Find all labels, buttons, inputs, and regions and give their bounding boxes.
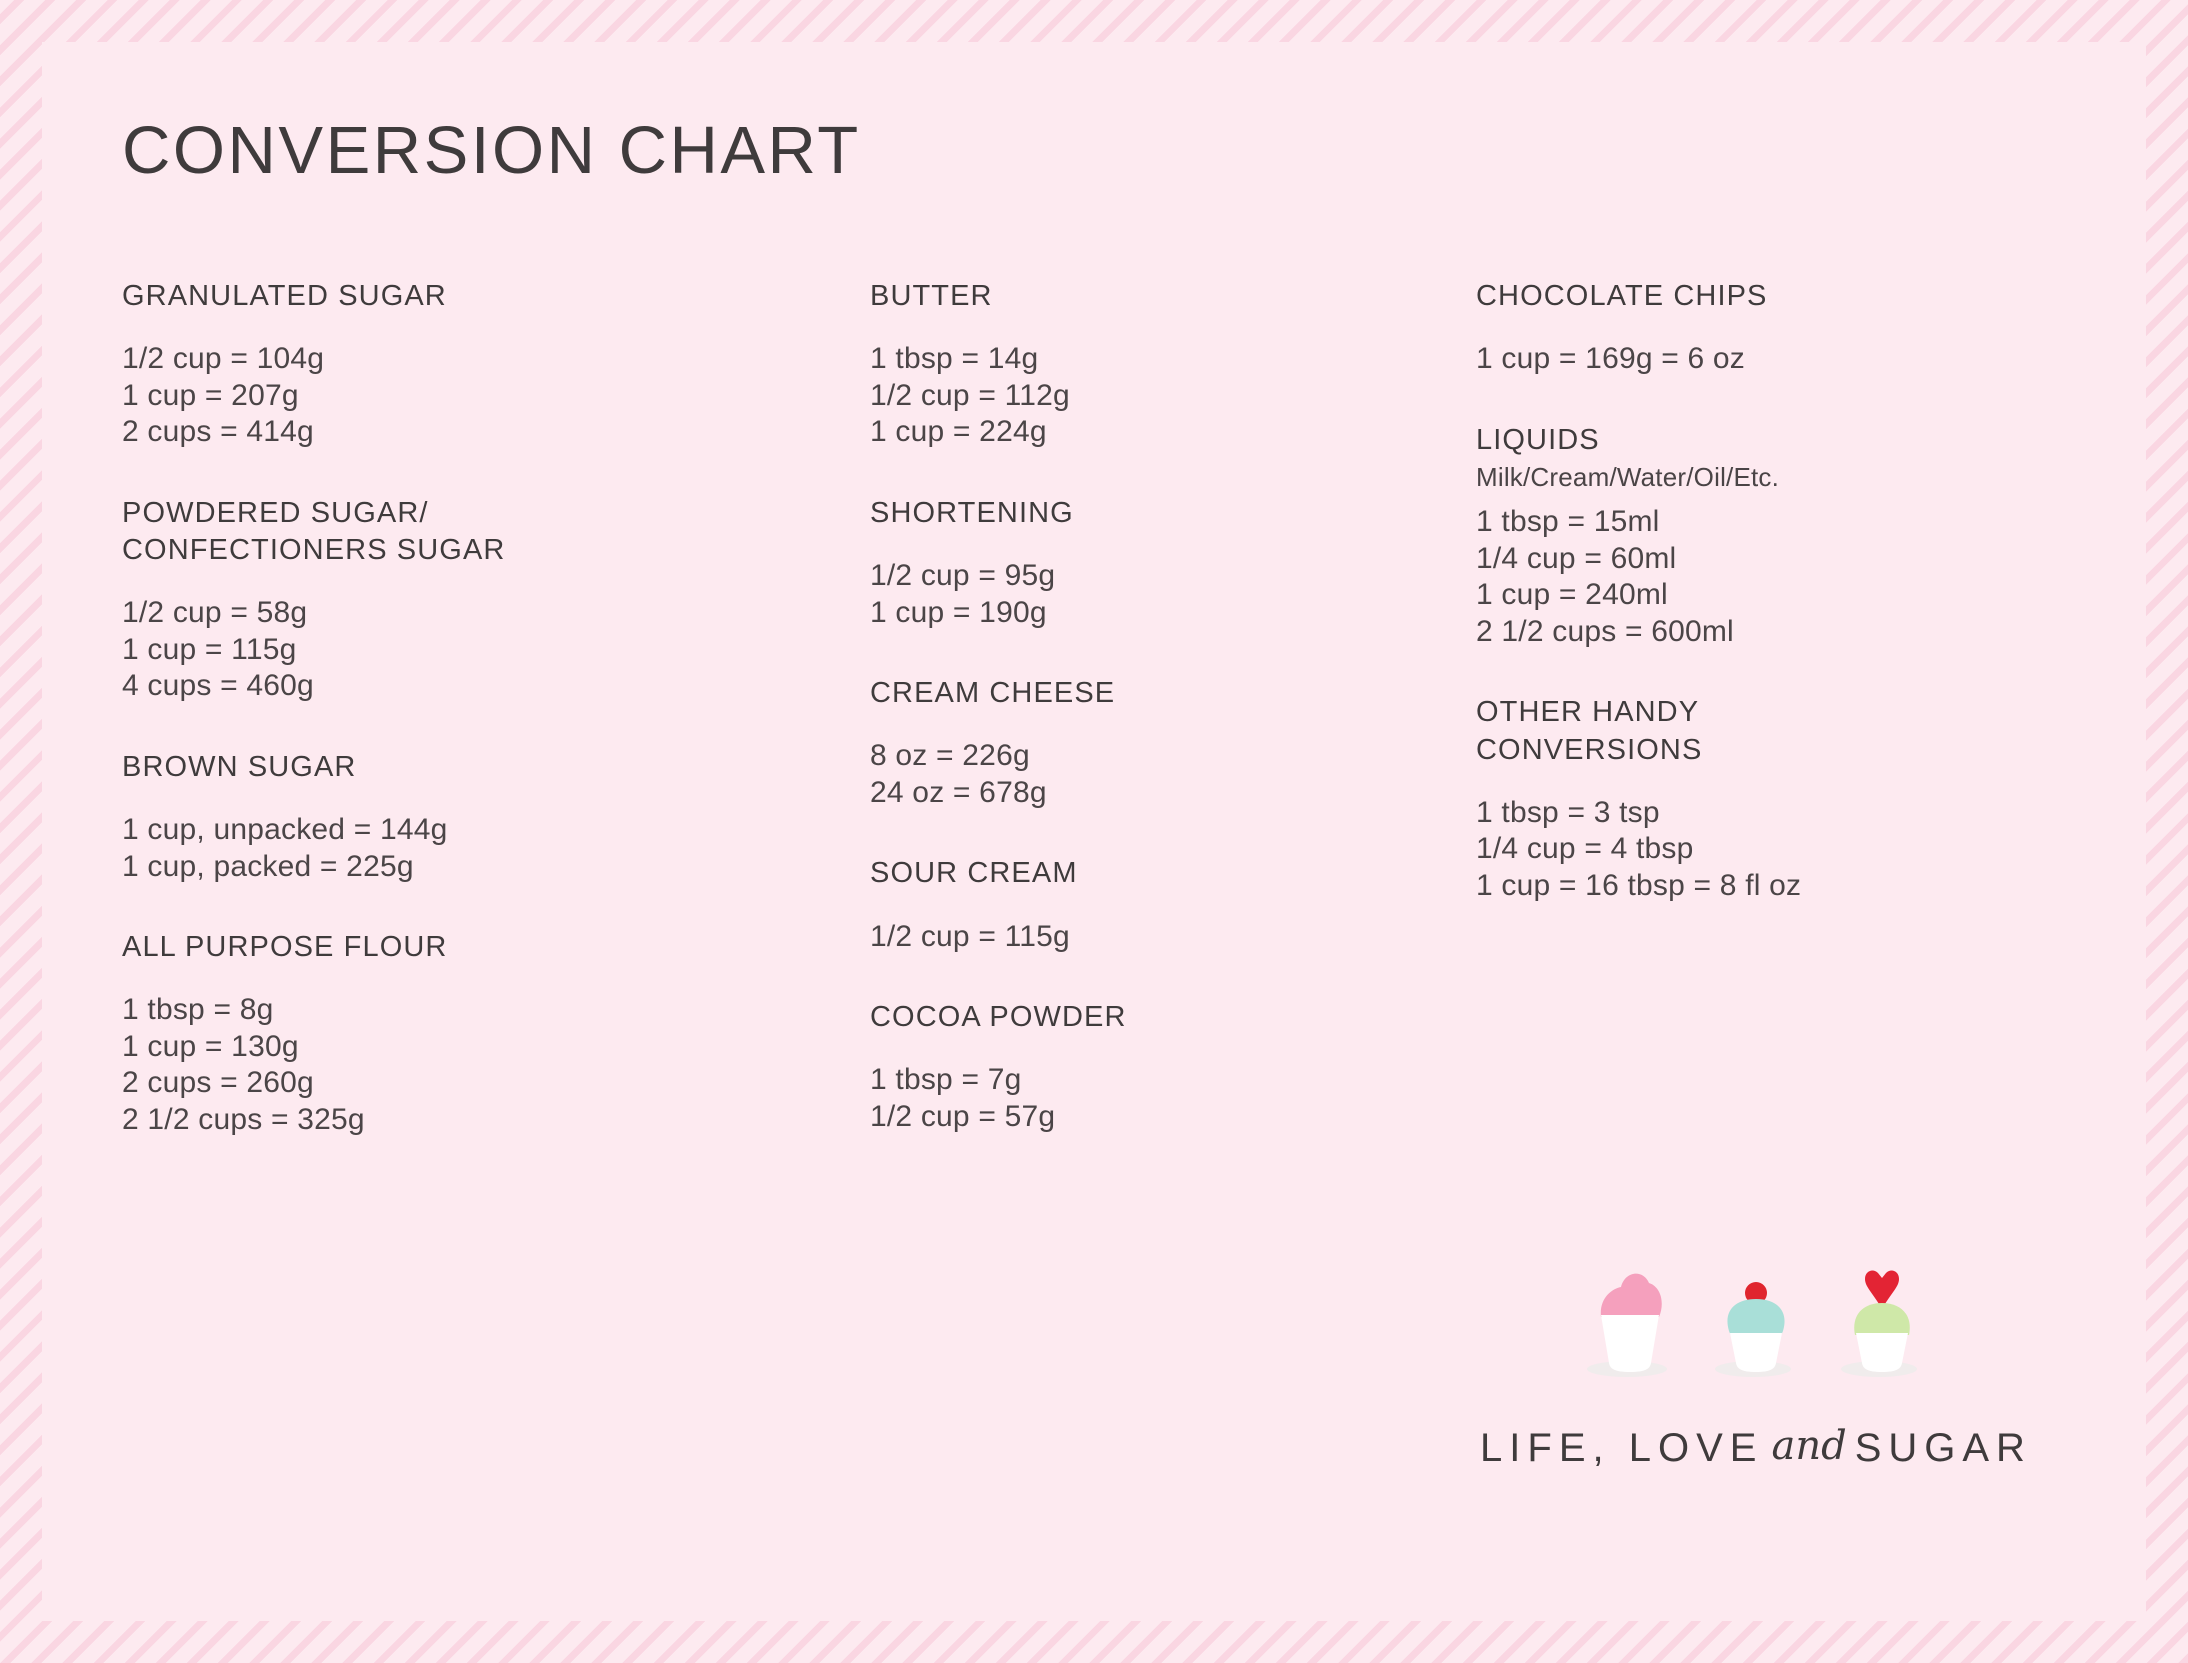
mint-cherry-cupcake-icon: [1707, 1259, 1805, 1377]
section-sour-cream: SOUR CREAM 1/2 cup = 115g: [870, 855, 1340, 955]
conversion-row: 1 cup = 190g: [870, 595, 1340, 632]
conversion-row: 1 tbsp = 14g: [870, 341, 1340, 378]
conversion-row: 1 cup, unpacked = 144g: [122, 812, 642, 849]
section-shortening: SHORTENING 1/2 cup = 95g 1 cup = 190g: [870, 495, 1340, 631]
conversion-row: 8 oz = 226g: [870, 738, 1340, 775]
section-subheading: Milk/Cream/Water/Oil/Etc.: [1476, 461, 2036, 494]
chart-content: CONVERSION CHART GRANULATED SUGAR 1/2 cu…: [42, 42, 2146, 1621]
conversion-row: 1 tbsp = 3 tsp: [1476, 795, 2036, 832]
conversion-row: 2 cups = 414g: [122, 414, 642, 451]
section-heading: LIQUIDS Milk/Cream/Water/Oil/Etc.: [1476, 422, 2036, 494]
conversion-row: 2 1/2 cups = 600ml: [1476, 614, 2036, 651]
section-heading-text: LIQUIDS: [1476, 424, 1600, 456]
section-brown-sugar: BROWN SUGAR 1 cup, unpacked = 144g 1 cup…: [122, 749, 642, 885]
section-cocoa-powder: COCOA POWDER 1 tbsp = 7g 1/2 cup = 57g: [870, 999, 1340, 1135]
column-1: GRANULATED SUGAR 1/2 cup = 104g 1 cup = …: [122, 278, 642, 1139]
green-heart-cupcake-icon: [1833, 1259, 1931, 1377]
conversion-row: 1 cup = 240ml: [1476, 577, 2036, 614]
section-heading-line-1: OTHER HANDY: [1476, 696, 1699, 728]
conversion-row: 1 cup = 16 tbsp = 8 fl oz: [1476, 868, 2036, 905]
section-heading-line-1: POWDERED SUGAR/: [122, 497, 429, 529]
section-heading: SHORTENING: [870, 495, 1340, 532]
conversion-row: 1/2 cup = 104g: [122, 341, 642, 378]
section-butter: BUTTER 1 tbsp = 14g 1/2 cup = 112g 1 cup…: [870, 278, 1340, 451]
brand-logo: LIFE, LOVE and SUGAR: [1476, 1257, 2036, 1471]
column-2: BUTTER 1 tbsp = 14g 1/2 cup = 112g 1 cup…: [870, 278, 1340, 1135]
conversion-row: 1 cup, packed = 225g: [122, 849, 642, 886]
conversion-row: 1 tbsp = 15ml: [1476, 504, 2036, 541]
section-heading: CHOCOLATE CHIPS: [1476, 278, 2036, 315]
section-heading: POWDERED SUGAR/ CONFECTIONERS SUGAR: [122, 495, 642, 569]
conversion-chart-page: CONVERSION CHART GRANULATED SUGAR 1/2 cu…: [0, 0, 2188, 1663]
conversion-row: 1/4 cup = 60ml: [1476, 541, 2036, 578]
conversion-row: 1 cup = 207g: [122, 378, 642, 415]
pink-swirl-cupcake-icon: [1581, 1259, 1679, 1377]
conversion-row: 1 cup = 130g: [122, 1029, 642, 1066]
section-heading: BUTTER: [870, 278, 1340, 315]
section-other-handy-conversions: OTHER HANDY CONVERSIONS 1 tbsp = 3 tsp 1…: [1476, 694, 2036, 904]
section-granulated-sugar: GRANULATED SUGAR 1/2 cup = 104g 1 cup = …: [122, 278, 642, 451]
conversion-row: 1/2 cup = 58g: [122, 595, 642, 632]
conversion-row: 1 cup = 224g: [870, 414, 1340, 451]
conversion-row: 24 oz = 678g: [870, 775, 1340, 812]
conversion-row: 1/2 cup = 57g: [870, 1099, 1340, 1136]
conversion-row: 1/4 cup = 4 tbsp: [1476, 831, 2036, 868]
brand-script-and: and: [1763, 1423, 1854, 1469]
section-heading: GRANULATED SUGAR: [122, 278, 642, 315]
conversion-row: 1 tbsp = 8g: [122, 992, 642, 1029]
page-title: CONVERSION CHART: [122, 112, 861, 189]
brand-text-part-1: LIFE, LOVE: [1480, 1426, 1763, 1471]
conversion-row: 1/2 cup = 95g: [870, 558, 1340, 595]
section-powdered-sugar: POWDERED SUGAR/ CONFECTIONERS SUGAR 1/2 …: [122, 495, 642, 705]
section-heading: BROWN SUGAR: [122, 749, 642, 786]
brand-wordmark: LIFE, LOVE and SUGAR: [1476, 1425, 2036, 1471]
conversion-row: 2 1/2 cups = 325g: [122, 1102, 642, 1139]
conversion-row: 1 cup = 169g = 6 oz: [1476, 341, 2036, 378]
conversion-row: 1/2 cup = 115g: [870, 919, 1340, 956]
section-cream-cheese: CREAM CHEESE 8 oz = 226g 24 oz = 678g: [870, 675, 1340, 811]
section-heading: CREAM CHEESE: [870, 675, 1340, 712]
column-3: CHOCOLATE CHIPS 1 cup = 169g = 6 oz LIQU…: [1476, 278, 2036, 904]
brand-text-part-2: SUGAR: [1855, 1426, 2032, 1471]
conversion-row: 2 cups = 260g: [122, 1065, 642, 1102]
conversion-row: 1 tbsp = 7g: [870, 1062, 1340, 1099]
section-heading-line-2: CONVERSIONS: [1476, 734, 1702, 766]
section-heading-line-2: CONFECTIONERS SUGAR: [122, 534, 505, 566]
section-heading: ALL PURPOSE FLOUR: [122, 929, 642, 966]
section-liquids: LIQUIDS Milk/Cream/Water/Oil/Etc. 1 tbsp…: [1476, 422, 2036, 651]
conversion-row: 4 cups = 460g: [122, 668, 642, 705]
section-heading: OTHER HANDY CONVERSIONS: [1476, 694, 2036, 768]
section-all-purpose-flour: ALL PURPOSE FLOUR 1 tbsp = 8g 1 cup = 13…: [122, 929, 642, 1138]
conversion-row: 1/2 cup = 112g: [870, 378, 1340, 415]
conversion-row: 1 cup = 115g: [122, 632, 642, 669]
section-heading: COCOA POWDER: [870, 999, 1340, 1036]
section-heading: SOUR CREAM: [870, 855, 1340, 892]
cupcake-illustration-group: [1476, 1257, 2036, 1377]
section-chocolate-chips: CHOCOLATE CHIPS 1 cup = 169g = 6 oz: [1476, 278, 2036, 378]
